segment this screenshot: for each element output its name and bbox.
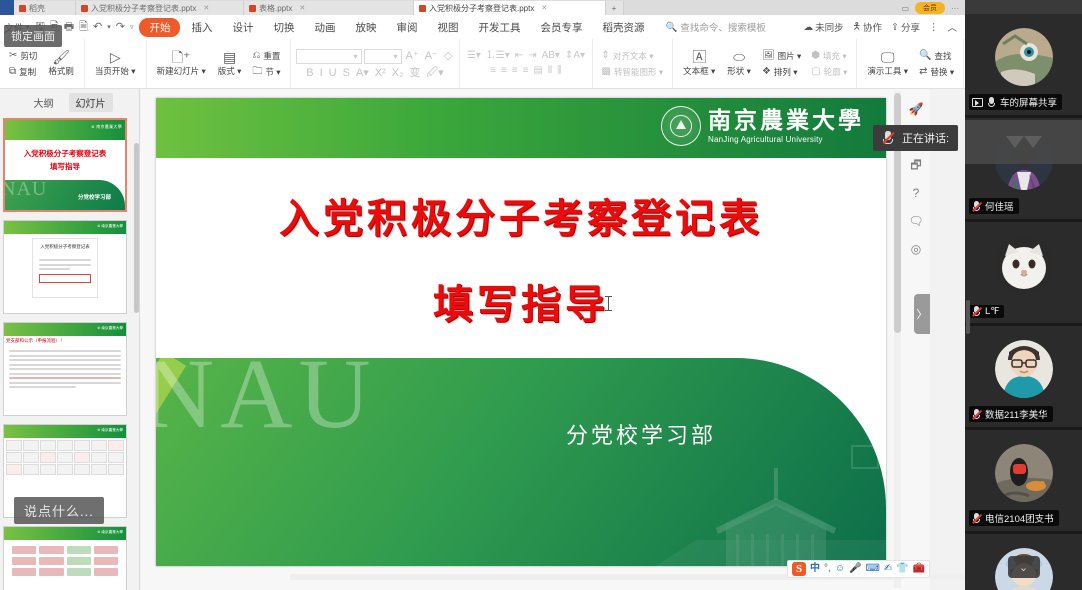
scroll-down-button[interactable]: ⌄ (1008, 556, 1040, 578)
microphone-muted-icon (972, 201, 981, 212)
sync-status-button[interactable]: ☁ 未同步 (804, 20, 844, 34)
replace-button[interactable]: ⇄ 替换 ▾ (916, 65, 957, 79)
picture-button[interactable]: 🖼 图片 ▾ (759, 49, 804, 63)
ppt-file-icon (81, 5, 88, 12)
thumb-chip (94, 557, 118, 565)
participant-hover-overlay[interactable] (965, 120, 1082, 164)
line-spacing-icon[interactable]: ⇕A▾ (563, 50, 586, 62)
meeting-top-bar (965, 0, 1082, 14)
thumb-table-cell (108, 464, 124, 475)
ribbon-tab-review[interactable]: 审阅 (387, 18, 426, 37)
sogou-ime-toolbar[interactable]: S 中 °, ☺ 🎤 ⌨ ✍ 👕 🧰 (787, 560, 930, 578)
thumb-line (9, 382, 121, 384)
university-logo: 南京農業大學 NanJing Agricultural University (661, 106, 864, 146)
help-icon[interactable]: ? (913, 187, 920, 199)
wps-presentation-window: 稻壳 入党积极分子考察登记表.pptx ✕ 表格.pptx ✕ 入党积极分子考察… (0, 0, 965, 590)
thumb-line (9, 386, 76, 388)
thumb-watermark: NAU (5, 180, 47, 201)
ribbon-group-tools: 🖵 演示工具 ▾ 🔍 查找 ⇄ 替换 ▾ (857, 39, 964, 88)
microphone-muted-icon (972, 409, 981, 420)
thumb-table (4, 438, 126, 477)
cut-button[interactable]: ✂ 剪切 (6, 49, 40, 63)
avatar (995, 444, 1053, 502)
university-logo-mini: ⊛ 南京農業大學 (97, 428, 123, 433)
char-spacing-icon[interactable]: AB▾ (540, 50, 561, 62)
thumb-line (9, 355, 121, 357)
play-circle-icon: ▷ (110, 50, 121, 64)
slide-subtitle[interactable]: 填写指导 (433, 272, 609, 330)
align-text-icon: ⇕ (602, 51, 610, 61)
ribbon-tab-start[interactable]: 开始 (139, 18, 180, 37)
thumb-chip (94, 546, 118, 554)
ribbon-tab-slideshow[interactable]: 放映 (346, 18, 385, 37)
ribbon-tab-transition[interactable]: 切换 (264, 18, 303, 37)
ribbon-tab-insert[interactable]: 插入 (182, 18, 221, 37)
columns-icon[interactable]: ⫴ (546, 65, 553, 77)
font-row-bottom: B I U S A▾ X² X₂ 变 🖉▾ (304, 67, 445, 79)
presenter-view-icon[interactable]: 🗗 (910, 159, 921, 171)
thumb-table-cell (57, 452, 73, 463)
minimize-icon[interactable]: ▭ (901, 4, 909, 13)
avatar (995, 340, 1053, 398)
highlight-icon[interactable]: 🖉▾ (424, 67, 445, 79)
lock-screen-tooltip: 锁定画面 (4, 25, 62, 47)
arrange-button[interactable]: ❖ 排列 ▾ (759, 65, 804, 79)
thumb-line (39, 264, 91, 266)
ribbon-group-paragraph: ☰▾ ⒈☰▾ ⇤ ⇥ AB▾ ⇕A▾ ≡ ≡ ≡ ≡ ▤ ⫴ ⫼ (460, 39, 592, 88)
thumb-highlight-box (39, 274, 91, 283)
ribbon-tab-design[interactable]: 设计 (223, 18, 262, 37)
university-logo-mini: ⊛ 南京農業大學 (97, 326, 123, 331)
participant-tile[interactable]: 车的屏幕共享 (965, 14, 1082, 118)
thumb-line (9, 368, 121, 370)
ppt-file-icon (249, 5, 256, 12)
thumb-line (9, 350, 121, 352)
document-tab-label: 表格.pptx (259, 3, 292, 14)
text-direction-icon[interactable]: ⫼ (556, 65, 564, 77)
university-logo-mini: ⊛ 南京農業大學 (97, 530, 123, 535)
participant-tile[interactable]: 电信2104团支书 (965, 430, 1082, 534)
input-mode-chinese[interactable]: 中 (810, 564, 820, 574)
document-tab[interactable]: 稻壳 (14, 1, 76, 15)
navigator-tabs: 大纲 幻灯片 (0, 89, 139, 115)
present-tools-icon: 🖵 (881, 50, 895, 64)
skin-icon[interactable]: 👕 (896, 564, 908, 574)
document-tab-label: 入党积极分子考察登记表.pptx (429, 3, 534, 14)
outline-icon: ▢ (811, 67, 820, 77)
close-tab-icon[interactable]: ✕ (203, 4, 209, 12)
presentation-tools-button[interactable]: 🖵 演示工具 ▾ (863, 48, 912, 79)
canvas-side-rail: 🚀 ✩ 🗗 ? 🗨 ◎ (902, 89, 930, 590)
screen-share-icon (972, 98, 983, 107)
convert-to-smartart-button[interactable]: ▩ 转智能图形 ▾ (599, 65, 667, 79)
paragraph-row-top: ☰▾ ⒈☰▾ ⇤ ⇥ AB▾ ⇕A▾ (465, 50, 586, 62)
thumb-table-cell (57, 464, 73, 475)
keyboard-icon[interactable]: ⌨ (865, 564, 879, 574)
thumb-form-card: 入党积极分子考察登记表 (32, 238, 98, 298)
thumb-subtitle: 填写指导 (50, 161, 80, 172)
font-size-input[interactable]: ▾ (364, 49, 402, 64)
thumb-table-cell (91, 464, 107, 475)
thumb-chip (67, 546, 91, 554)
thumb-compare-grid (4, 540, 126, 582)
microphone-muted-icon (882, 131, 894, 145)
university-seal-icon (661, 106, 701, 146)
new-slide-icon: 🗋⁺ (172, 50, 191, 64)
thumb-title: 入党积极分子考察登记表 (39, 244, 91, 250)
document-tab[interactable]: 入党积极分子考察登记表.pptx ✕ (76, 1, 244, 15)
align-right-icon[interactable]: ≡ (510, 65, 519, 77)
fill-button[interactable]: ⬢ 填充 ▾ (808, 49, 850, 63)
thumb-chip (12, 546, 36, 554)
underline-button[interactable]: U (327, 67, 339, 79)
participant-name: 数据211李美华 (985, 407, 1048, 421)
thumb-table-cell (108, 452, 124, 463)
participant-nametag: 数据211李美华 (969, 406, 1053, 422)
align-left-icon[interactable]: ≡ (489, 65, 498, 77)
window-left-cap (0, 0, 14, 15)
thumb-body: 入党积极分子考察登记表 填写指导 (5, 140, 125, 180)
ribbon-tab-bar: 文件 ▾ 🖫 🖻 🖶 🗎 ↶ ▾ ↷ ▿ 开始 插入 设计 切换 动画 放映 审… (0, 15, 965, 39)
thumb-chip (67, 568, 91, 576)
shapes-button[interactable]: ⬭ 形状 ▾ (723, 48, 755, 79)
replace-icon: ⇄ (919, 67, 927, 77)
feedback-icon[interactable]: 🗨 (908, 215, 923, 227)
tab-slides[interactable]: 幻灯片 (69, 93, 113, 112)
shapes-icon: ⬭ (733, 50, 745, 64)
new-tab-button[interactable]: + (606, 1, 624, 15)
thumb-chip (39, 568, 63, 576)
scissors-icon: ✂ (9, 51, 17, 61)
document-tab-label: 入党积极分子考察登记表.pptx (91, 3, 196, 14)
font-family-input[interactable]: ▾ (296, 49, 362, 64)
format-painter-button[interactable]: 🖌 格式刷 (44, 48, 78, 79)
thumb-header-band: ⊛ 南京農業大學 (4, 425, 126, 438)
participant-name: 电信2104团支书 (985, 511, 1054, 525)
ribbon-group-insert-objects: 🄰 文本框 ▾ ⬭ 形状 ▾ 🖼 图片 ▾ ❖ 排列 ▾ (673, 39, 857, 88)
smartart-icon: ▩ (602, 67, 611, 77)
slide-canvas-area[interactable]: 南京農業大學 NanJing Agricultural University 入… (140, 89, 930, 590)
arrange-icon: ❖ (762, 67, 771, 77)
thumbnail-scrollbar[interactable] (134, 143, 139, 313)
distribute-icon[interactable]: ▤ (532, 65, 544, 77)
thumb-line (9, 359, 121, 361)
current-slide[interactable]: 南京農業大學 NanJing Agricultural University 入… (156, 98, 886, 566)
chevron-down-icon[interactable]: ▾ (107, 24, 111, 31)
phonetic-guide-button[interactable]: 变 (407, 67, 422, 79)
thumb-line (9, 377, 121, 379)
copy-icon: ⧉ (9, 67, 16, 77)
target-icon[interactable]: ◎ (911, 243, 921, 255)
thumb-chip (39, 557, 63, 565)
ribbon-tab-docer[interactable]: 稻壳资源 (593, 18, 653, 37)
redo-icon[interactable]: ↷ (116, 22, 125, 33)
participant-nametag: 电信2104团支书 (969, 510, 1059, 526)
document-tab-label: 稻壳 (29, 3, 45, 14)
microphone-icon (987, 97, 996, 108)
thumb-title: 党支部和公示（申报流程）！ (6, 338, 126, 344)
textbox-button[interactable]: 🄰 文本框 ▾ (679, 48, 719, 79)
undo-icon[interactable]: ↶ (93, 22, 102, 33)
ribbon-tab-developer[interactable]: 开发工具 (469, 18, 529, 37)
thumb-chip (39, 546, 63, 554)
thumb-chip (94, 568, 118, 576)
ribbon-group-font: ▾ ▾ A⁺ A⁻ ◇ B I U S A▾ X² X₂ (291, 39, 461, 88)
participant-name: 车的屏幕共享 (1000, 95, 1057, 109)
toolbox-icon[interactable]: 🧰 (913, 564, 925, 574)
slide-title-area[interactable]: 入党积极分子考察登记表 填写指导 (156, 158, 886, 358)
ribbon-tab-member[interactable]: 会员专享 (531, 18, 591, 37)
ribbon-more-icon[interactable]: ⋮ (929, 22, 939, 33)
ribbon-group-slides: 🗋⁺ 新建幻灯片 ▾ ▤ 版式 ▾ ⎌ 重置 🗀 节 ▾ (147, 39, 291, 88)
ribbon-group-text-align: ⇕ 对齐文本 ▾ ▩ 转智能图形 ▾ (593, 39, 674, 88)
ppt-file-icon (419, 5, 426, 12)
customize-qat-icon[interactable]: ▿ (130, 24, 134, 31)
slide-thumbnail-3[interactable]: ⊛ 南京農業大學 党支部和公示（申报流程）！ (3, 322, 127, 416)
emoji-icon[interactable]: ☺ (835, 564, 845, 574)
increase-font-size-button[interactable]: A⁺ (404, 50, 421, 62)
thumb-table-cell (108, 440, 124, 451)
text-cursor-icon (608, 296, 609, 311)
numbered-list-icon[interactable]: ⒈☰▾ (484, 50, 511, 62)
document-tab-active[interactable]: 入党积极分子考察登记表.pptx ✕ (414, 1, 606, 15)
slide-footer-band: NAU 分党校学习部 (156, 358, 886, 566)
bullet-list-icon[interactable]: ☰▾ (465, 50, 482, 62)
thumb-department: 分党校学习部 (78, 193, 111, 201)
thumb-table-cell (74, 440, 90, 451)
participant-nametag: 何佳瑶 (969, 198, 1019, 214)
increase-indent-icon[interactable]: ⇥ (527, 50, 538, 62)
avatar (995, 236, 1053, 294)
thumb-table-cell (91, 440, 107, 451)
microphone-muted-icon (972, 306, 981, 317)
thumb-body (4, 347, 126, 394)
thumb-table-cell (6, 440, 22, 451)
thumb-table-cell (6, 452, 22, 463)
command-search[interactable]: 🔍 查找命令、搜索模板 (665, 20, 765, 34)
copy-button[interactable]: ⧉ 复制 (6, 65, 40, 79)
thumb-chip (12, 557, 36, 565)
screen-root: 稻壳 入党积极分子考察登记表.pptx ✕ 表格.pptx ✕ 入党积极分子考察… (0, 0, 1082, 590)
rail-expand-button[interactable]: 〉 (914, 294, 930, 334)
font-row-top: ▾ ▾ A⁺ A⁻ ◇ (296, 49, 455, 64)
bold-button[interactable]: B (304, 67, 315, 79)
thumb-table-cell (40, 464, 56, 475)
handwriting-icon[interactable]: ✍ (884, 564, 892, 574)
decrease-indent-icon[interactable]: ⇤ (513, 50, 524, 62)
participant-name: L℉ (985, 306, 999, 317)
clear-format-icon[interactable]: ◇ (442, 50, 454, 62)
participant-name: 何佳瑶 (985, 199, 1014, 213)
collaborate-button[interactable]: 🯅 协作 (853, 19, 882, 35)
tab-more-icon[interactable]: ··· (951, 4, 959, 13)
rocket-icon[interactable]: 🚀 (909, 103, 924, 115)
start-from-current-button[interactable]: ▷ 当页开始 ▾ (91, 48, 140, 79)
ribbon-tab-animation[interactable]: 动画 (305, 18, 344, 37)
avatar (995, 28, 1053, 86)
subscript-button[interactable]: X₂ (390, 67, 406, 79)
thumb-line (9, 373, 121, 375)
thumb-table-cell (40, 440, 56, 451)
fill-icon: ⬢ (811, 51, 820, 61)
tab-strip-right: ▭ 会员 ··· (901, 1, 965, 15)
command-search-placeholder: 查找命令、搜索模板 (680, 20, 766, 34)
align-center-icon[interactable]: ≡ (499, 65, 508, 77)
decrease-font-size-button[interactable]: A⁻ (423, 50, 440, 62)
slide-title[interactable]: 入党积极分子考察登记表 (279, 186, 763, 244)
section-button[interactable]: 🗀 节 ▾ (249, 65, 283, 79)
thumb-table-cell (23, 440, 39, 451)
voice-input-icon[interactable]: 🎤 (849, 564, 861, 574)
align-text-button[interactable]: ⇕ 对齐文本 ▾ (599, 49, 667, 63)
ribbon-group-start-show: ▷ 当页开始 ▾ (85, 39, 147, 88)
thumb-table-cell (23, 464, 39, 475)
find-button[interactable]: 🔍 查找 (916, 49, 957, 63)
slide-watermark: NAU (156, 358, 377, 444)
university-logo-mini: ⊛ 南京農業大學 (97, 224, 123, 229)
strikethrough-button[interactable]: S (341, 67, 352, 79)
italic-button[interactable]: I (318, 67, 325, 79)
thumb-chip (12, 568, 36, 576)
document-tab[interactable]: 表格.pptx ✕ (244, 1, 414, 15)
layout-button[interactable]: ▤ 版式 ▾ (214, 48, 246, 79)
thumb-title: 入党积极分子考察登记表 (24, 148, 107, 159)
university-logo-mini: ⊛ 南京農業大學 (91, 124, 122, 130)
ribbon-right-actions: ☁ 未同步 🯅 协作 ⇪ 分享 ⋮ ︿ (804, 19, 965, 35)
textbox-icon: 🄰 (692, 50, 706, 64)
thumb-header-band: ⊛ 南京農業大學 (5, 120, 125, 140)
participant-tile[interactable]: L℉ (965, 222, 1082, 326)
meeting-participants-panel: 车的屏幕共享 何佳瑶 (965, 0, 1082, 590)
thumb-table-cell (23, 452, 39, 463)
print-preview-icon[interactable]: 🗎 (79, 22, 88, 33)
paragraph-row-bottom: ≡ ≡ ≡ ≡ ▤ ⫴ ⫼ (489, 65, 564, 77)
thumbnail-hover-tooltip: 说点什么... (14, 497, 104, 524)
slide-thumbnail-5[interactable]: ⊛ 南京農業大學 (3, 526, 127, 590)
collaborate-icon: 🯅 (853, 19, 861, 35)
vip-badge[interactable]: 会员 (915, 2, 945, 14)
university-name-cn: 南京農業大學 (708, 109, 864, 132)
justify-icon[interactable]: ≡ (521, 65, 530, 77)
participant-nametag: 车的屏幕共享 (969, 94, 1062, 110)
campus-building-illustration (656, 416, 886, 566)
thumb-table-cell (57, 440, 73, 451)
ribbon-collapse-icon[interactable]: ︿ (947, 20, 957, 34)
thumb-table-cell (6, 464, 22, 475)
tab-outline[interactable]: 大纲 (27, 93, 61, 112)
thumb-table-cell (40, 452, 56, 463)
format-painter-icon: 🖌 (52, 50, 70, 64)
punctuation-icon[interactable]: °, (824, 564, 831, 574)
picture-icon: 🖼 (762, 51, 775, 61)
document-tab-strip: 稻壳 入党积极分子考察登记表.pptx ✕ 表格.pptx ✕ 入党积极分子考察… (0, 0, 965, 15)
university-name-en: NanJing Agricultural University (708, 136, 864, 144)
chevron-up-icon (1024, 136, 1042, 148)
ribbon-body: ✂ 剪切 ⧉ 复制 🖌 格式刷 ▷ 当页开始 ▾ (0, 39, 965, 89)
speaking-tooltip: 正在讲话: (873, 125, 958, 151)
participants-scrollbar[interactable] (966, 300, 970, 334)
thumb-chip (67, 557, 91, 565)
thumb-footer-band: NAU 分党校学习部 (5, 180, 125, 212)
thumb-header-band: ⊛ 南京農業大學 (4, 221, 126, 234)
thumb-table-cell (74, 464, 90, 475)
search-icon: 🔍 (919, 51, 931, 61)
share-button[interactable]: ⇪ 分享 (891, 20, 920, 34)
reset-button[interactable]: ⎌ 重置 (249, 49, 283, 63)
thumb-table-cell (91, 452, 107, 463)
search-icon: 🔍 (665, 22, 677, 33)
thumb-line (9, 364, 121, 366)
cloud-sync-icon: ☁ (804, 22, 814, 33)
layout-icon: ▤ (223, 50, 236, 64)
thumb-line (39, 268, 70, 270)
outline-button[interactable]: ▢ 轮廓 ▾ (808, 65, 850, 79)
participant-nametag: L℉ (969, 305, 1004, 318)
sogou-logo-icon[interactable]: S (792, 562, 806, 576)
section-icon: 🗀 (252, 67, 262, 77)
character-border-button[interactable]: A▾ (354, 67, 371, 79)
ppt-file-icon (19, 5, 26, 12)
participant-tile[interactable]: 数据211李美华 (965, 326, 1082, 430)
slide-thumbnail-2[interactable]: ⊛ 南京農業大學 入党积极分子考察登记表 (3, 220, 127, 314)
speaking-label: 正在讲话: (902, 130, 949, 146)
print-icon[interactable]: 🖶 (64, 22, 74, 33)
new-slide-button[interactable]: 🗋⁺ 新建幻灯片 ▾ (153, 48, 210, 79)
close-tab-icon[interactable]: ✕ (299, 4, 305, 12)
thumb-table-cell (74, 452, 90, 463)
reset-icon: ⎌ (252, 51, 260, 61)
close-tab-icon[interactable]: ✕ (541, 4, 547, 12)
share-icon: ⇪ (891, 22, 899, 33)
thumb-header-band: ⊛ 南京農業大學 (4, 527, 126, 540)
thumb-line (39, 259, 91, 261)
slide-thumbnail-1[interactable]: ⊛ 南京農業大學 入党积极分子考察登记表 填写指导 NAU 分党校学习部 (3, 118, 127, 212)
thumb-header-band: ⊛ 南京農業大學 (4, 323, 126, 336)
slide-header-band: 南京農業大學 NanJing Agricultural University (156, 98, 886, 158)
microphone-muted-icon (972, 513, 981, 524)
ribbon-tab-view[interactable]: 视图 (428, 18, 467, 37)
superscript-button[interactable]: X² (373, 67, 388, 79)
chevron-up-icon (1006, 136, 1024, 148)
